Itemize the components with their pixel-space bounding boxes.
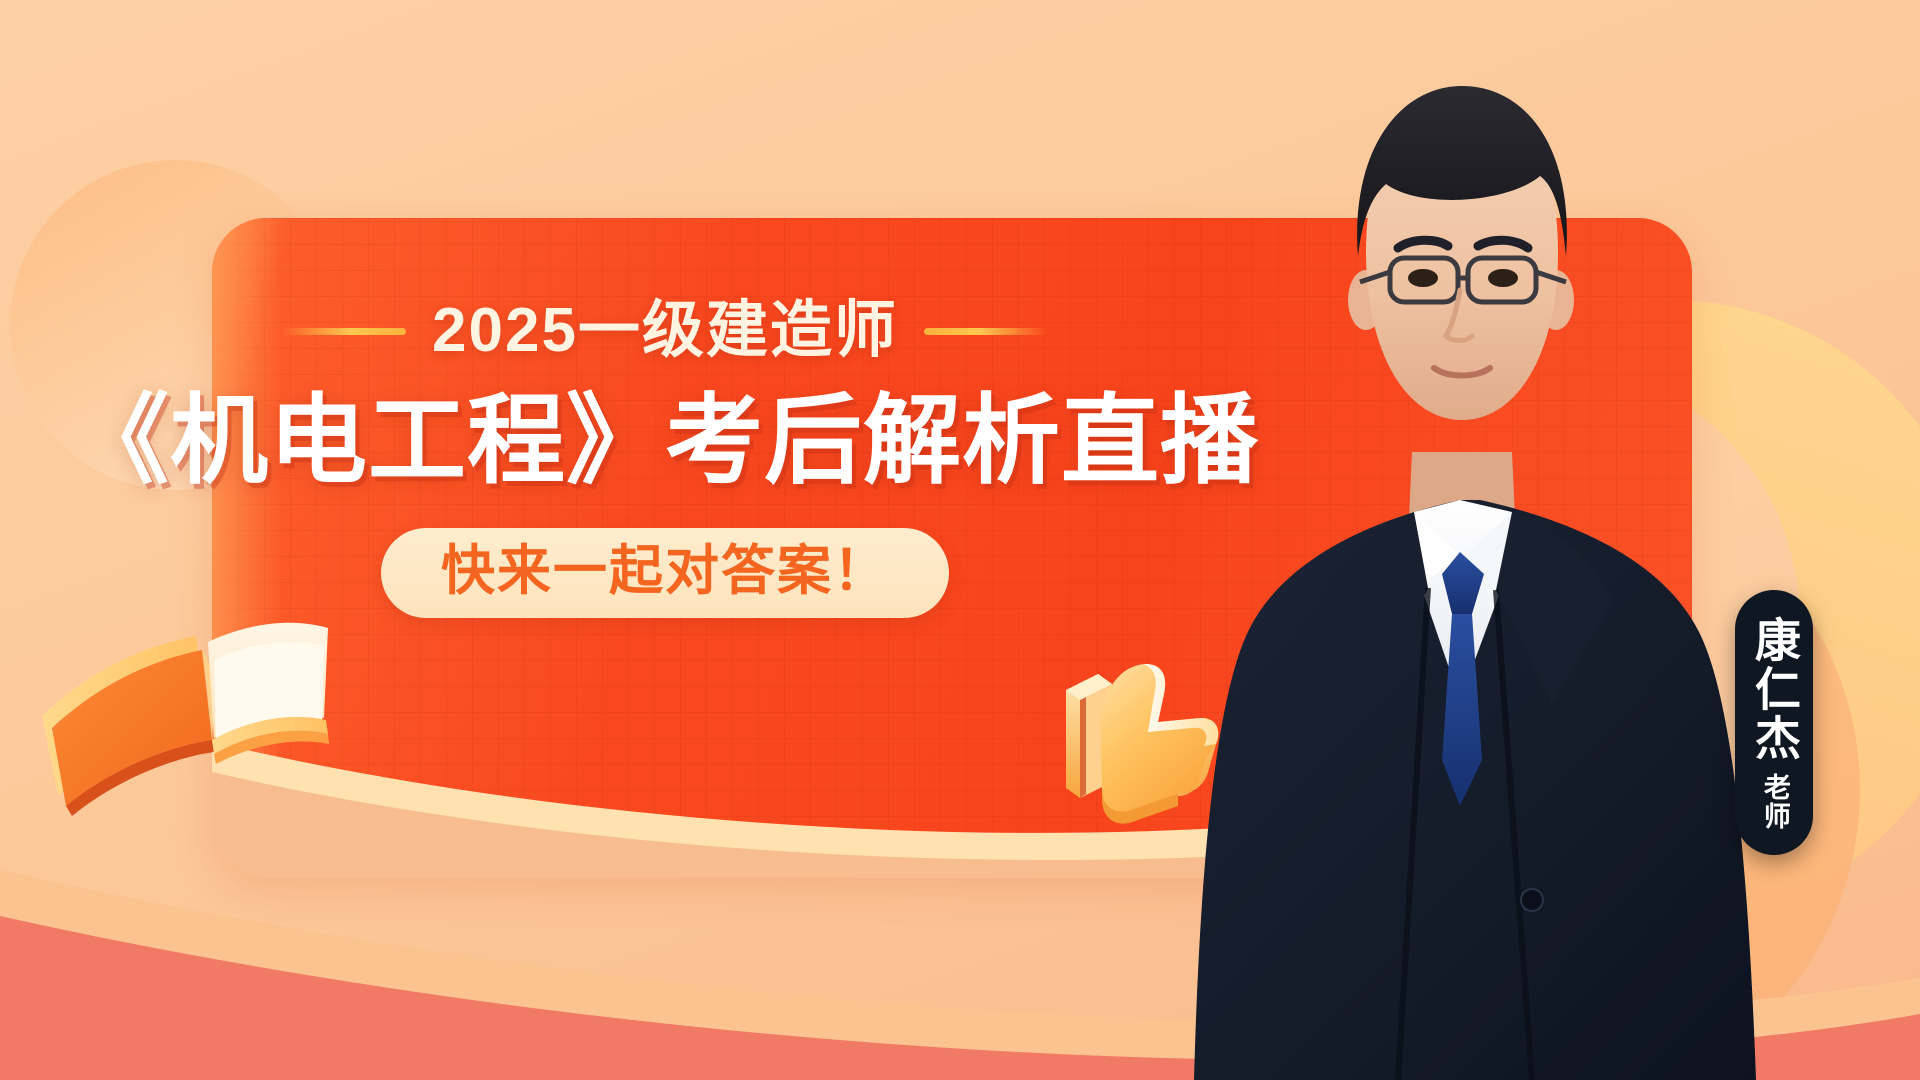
instructor-name: 康仁杰	[1749, 616, 1799, 763]
cta-button[interactable]: 快来一起对答案！	[381, 528, 949, 618]
headline-block: 2025一级建造师 《机电工程》考后解析直播 快来一起对答案！	[0, 300, 1330, 618]
instructor-portrait	[1160, 0, 1920, 1080]
eyebrow-text: 2025一级建造师	[432, 300, 898, 362]
instructor-role: 老师	[1759, 773, 1789, 831]
instructor-name-badge: 康仁杰 老师	[1735, 590, 1813, 855]
decorative-rule-left-icon	[282, 328, 406, 335]
promo-banner: 2025一级建造师 《机电工程》考后解析直播 快来一起对答案！	[0, 0, 1920, 1080]
headline-text: 《机电工程》考后解析直播	[0, 388, 1330, 494]
eyebrow-row: 2025一级建造师	[0, 300, 1330, 362]
decorative-rule-right-icon	[924, 328, 1048, 335]
open-book-icon	[36, 600, 336, 830]
cta-label: 快来一起对答案！	[441, 544, 889, 598]
